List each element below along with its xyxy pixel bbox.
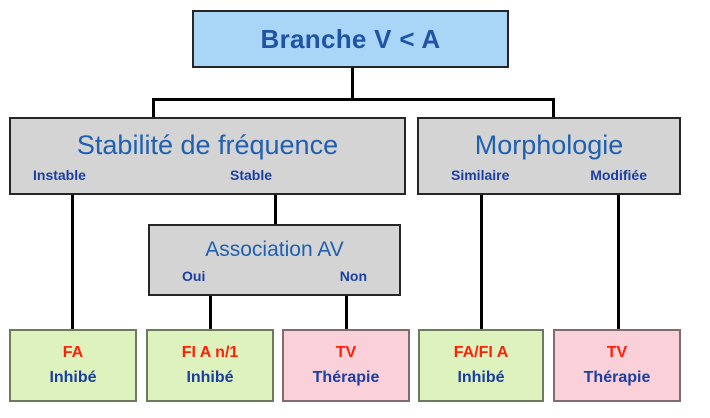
decision-node-morphologie-options: Similaire Modifiée: [419, 168, 679, 182]
connector-to-stabilite: [152, 98, 155, 119]
decision-node-association-av[interactable]: Association AV Oui Non: [148, 224, 401, 296]
connector-instable-to-fa: [71, 194, 74, 329]
outcome-diagnosis-label: FA: [11, 345, 135, 361]
outcome-diagnosis-label: TV: [555, 345, 679, 361]
outcome-node-fla-n1[interactable]: FI A n/1 Inhibé: [146, 329, 274, 402]
root-node-label: Branche V < A: [194, 26, 507, 52]
outcome-node-fa[interactable]: FA Inhibé: [9, 329, 137, 402]
outcome-action-label: Inhibé: [420, 370, 542, 386]
decision-node-stabilite-options: Instable Stable: [11, 168, 404, 182]
decision-node-association-av-options: Oui Non: [150, 269, 399, 283]
decision-tree-diagram: Branche V < A Stabilité de fréquence Ins…: [0, 0, 710, 418]
outcome-node-tv-2[interactable]: TV Thérapie: [553, 329, 681, 402]
outcome-diagnosis-label: TV: [284, 345, 408, 361]
connector-similaire-to-fa-fla: [480, 194, 483, 329]
option-non[interactable]: Non: [340, 269, 367, 283]
connector-modifiee-to-tv: [617, 194, 620, 329]
outcome-node-tv-1[interactable]: TV Thérapie: [282, 329, 410, 402]
option-instable[interactable]: Instable: [33, 168, 86, 182]
outcome-action-label: Inhibé: [11, 370, 135, 386]
decision-node-morphologie-title: Morphologie: [419, 132, 679, 159]
connector-oui-to-fla: [209, 295, 212, 329]
decision-node-stabilite[interactable]: Stabilité de fréquence Instable Stable: [9, 117, 406, 195]
root-node-branche-v-a[interactable]: Branche V < A: [192, 10, 509, 68]
decision-node-stabilite-title: Stabilité de fréquence: [11, 132, 404, 159]
connector-non-to-tv: [345, 295, 348, 329]
decision-node-association-av-title: Association AV: [150, 239, 399, 260]
option-stable[interactable]: Stable: [230, 168, 272, 182]
connector-root-stem: [351, 68, 354, 100]
outcome-action-label: Thérapie: [555, 370, 679, 386]
outcome-diagnosis-label: FA/FI A: [420, 345, 542, 361]
connector-stable-to-association: [274, 194, 277, 224]
outcome-diagnosis-label: FI A n/1: [148, 345, 272, 361]
option-similaire[interactable]: Similaire: [451, 168, 509, 182]
option-oui[interactable]: Oui: [182, 269, 205, 283]
connector-root-bus: [152, 98, 555, 101]
outcome-node-fa-fla[interactable]: FA/FI A Inhibé: [418, 329, 544, 402]
outcome-action-label: Thérapie: [284, 370, 408, 386]
outcome-action-label: Inhibé: [148, 370, 272, 386]
decision-node-morphologie[interactable]: Morphologie Similaire Modifiée: [417, 117, 681, 195]
option-modifiee[interactable]: Modifiée: [590, 168, 647, 182]
connector-to-morphologie: [552, 98, 555, 119]
